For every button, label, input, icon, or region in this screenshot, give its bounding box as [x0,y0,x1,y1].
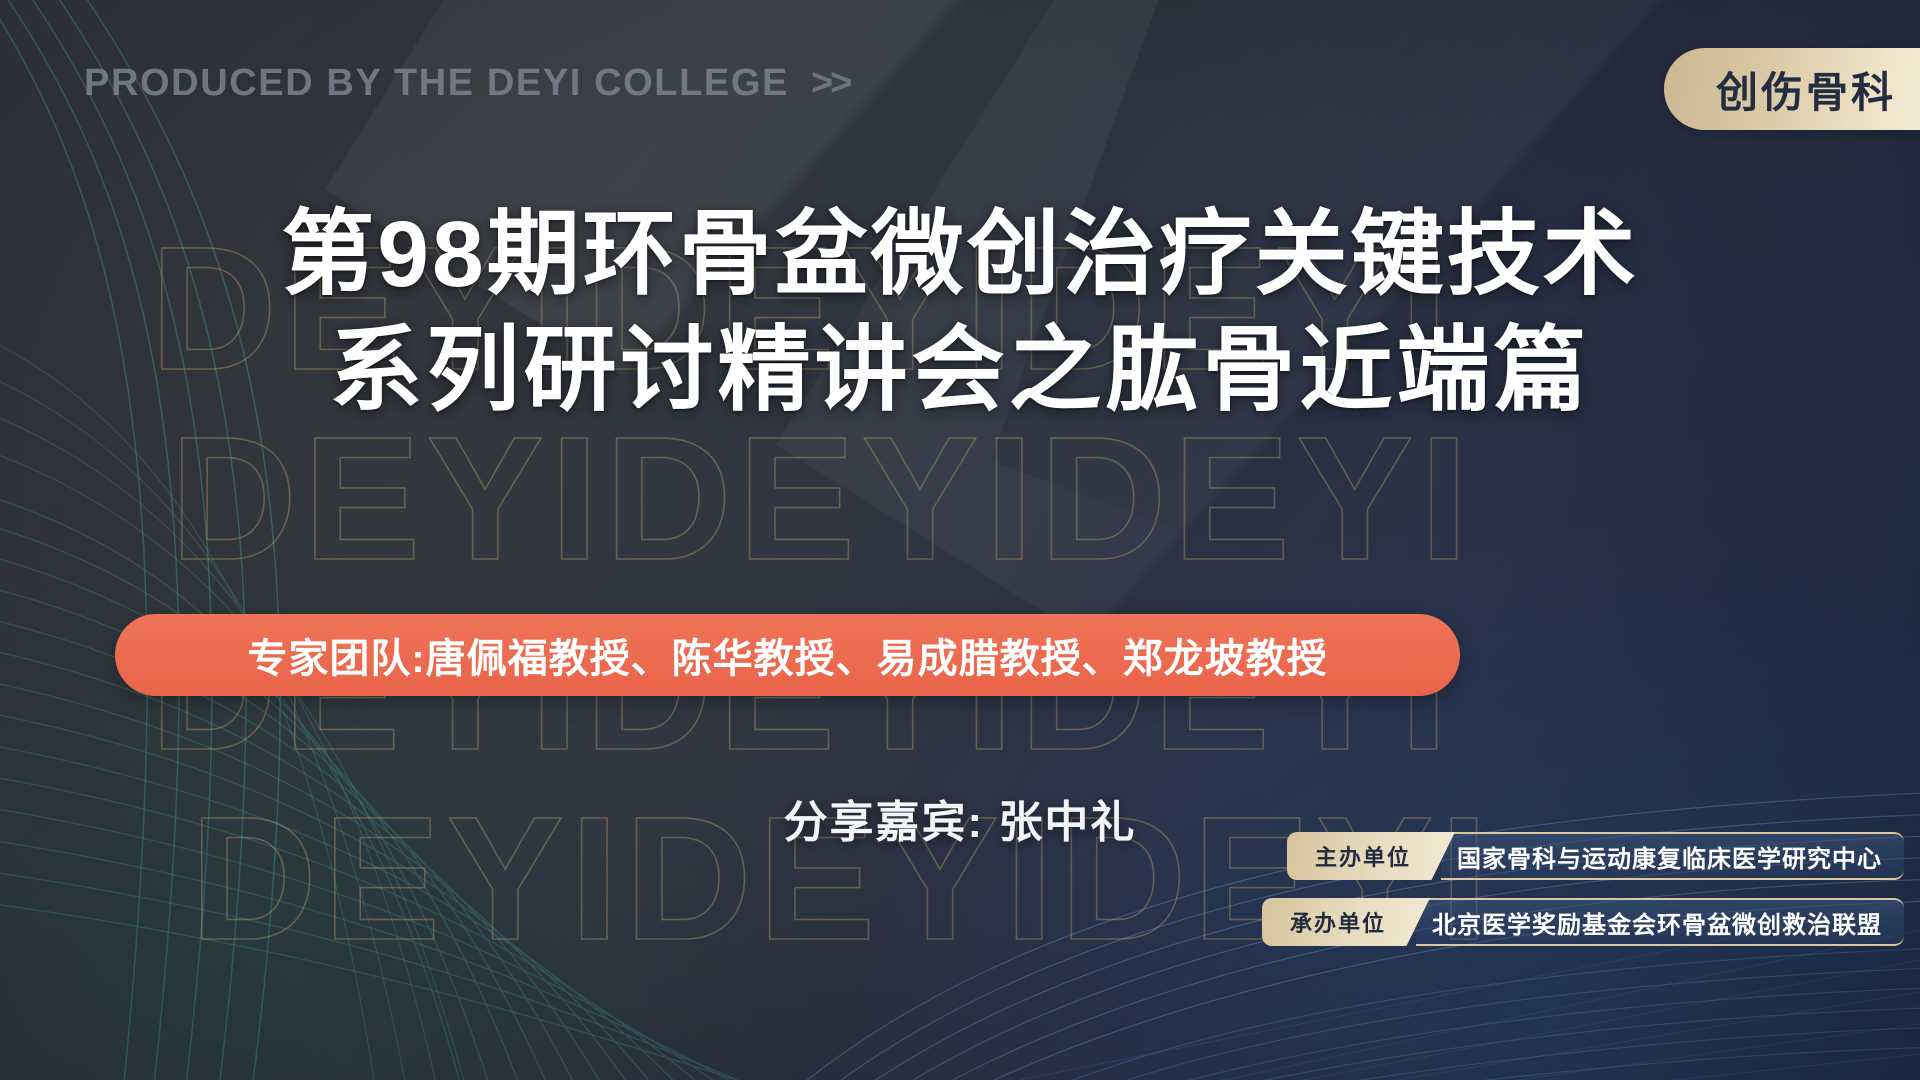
expert-team-banner: 专家团队:唐佩福教授、陈华教授、易成腊教授、郑龙坡教授 [115,614,1460,696]
organizer-value-host: 国家骨科与运动康复临床医学研究中心 [1441,832,1904,880]
title-line-2: 系列研讨精讲会之肱骨近端篇 [0,312,1920,428]
producer-kicker-text: PRODUCED BY THE DEYI COLLEGE [84,62,789,104]
producer-kicker: PRODUCED BY THE DEYI COLLEGE>> [84,62,849,105]
organizer-tag-coorganizer: 承办单位 [1262,898,1430,946]
chevron-right-icon: >> [811,62,849,104]
organizer-value-coorganizer: 北京医学奖励基金会环骨盆微创救治联盟 [1416,898,1904,946]
organizer-row-host: 主办单位 国家骨科与运动康复临床医学研究中心 [1287,832,1904,880]
title-line-1: 第98期环骨盆微创治疗关键技术 [0,196,1920,312]
page-title: 第98期环骨盆微创治疗关键技术 系列研讨精讲会之肱骨近端篇 [0,196,1920,429]
organizer-row-coorganizer: 承办单位 北京医学奖励基金会环骨盆微创救治联盟 [1262,898,1904,946]
organizer-tag-host: 主办单位 [1287,832,1455,880]
expert-team-text: 专家团队:唐佩福教授、陈华教授、易成腊教授、郑龙坡教授 [247,626,1327,684]
poster-canvas: DEYIDEYIDEYI DEYIDEYIDEYI DEYIDEYIDEYI D… [0,0,1920,1080]
category-badge-label: 创伤骨科 [1716,59,1896,120]
category-badge: 创伤骨科 [1664,48,1920,130]
